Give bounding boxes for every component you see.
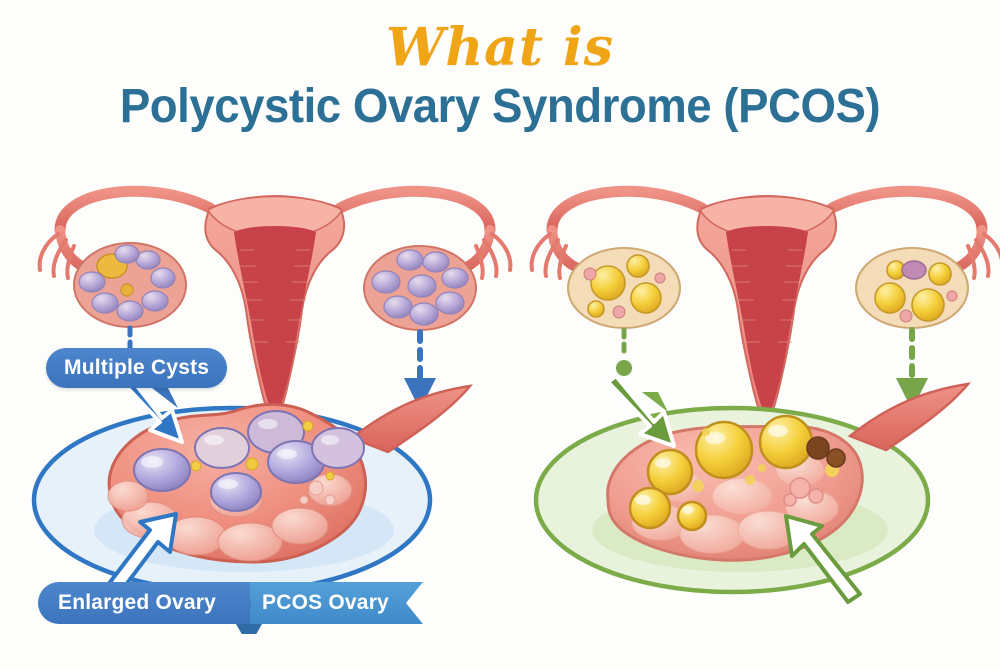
pcos-ovary-right-small: [364, 246, 476, 330]
normal-panel: Healthy Follicles Normal Ovary Regular S…: [500, 170, 1000, 670]
page-title: What is Polycystic Ovary Syndrome (PCOS): [0, 22, 1000, 132]
badge-tail-green: [642, 392, 668, 412]
badge-tail-blue: [152, 388, 178, 408]
infographic-canvas: What is Polycystic Ovary Syndrome (PCOS): [0, 0, 1000, 670]
pcos-ovary-left-small: [74, 243, 186, 327]
badge-multiple-cysts-label: Multiple Cysts: [64, 356, 209, 380]
banner-enlarged-ovary[interactable]: Enlarged Ovary: [38, 582, 250, 624]
normal-illustration: [500, 170, 1000, 670]
banner-pcos: Enlarged Ovary PCOS Ovary: [38, 582, 423, 624]
pcos-panel: Multiple Cysts Enlarged Ovary PCOS Ovary: [0, 170, 500, 670]
banner-pcos-ovary[interactable]: PCOS Ovary: [236, 582, 423, 624]
normal-ovary-left-small: [568, 248, 680, 328]
banner-pcos-ovary-label: PCOS Ovary: [262, 591, 389, 615]
badge-multiple-cysts[interactable]: Multiple Cysts: [46, 348, 227, 388]
normal-ovary-right-small: [856, 248, 968, 328]
title-main-line: Polycystic Ovary Syndrome (PCOS): [25, 82, 975, 132]
title-script-line: What is: [0, 22, 1000, 74]
banner-enlarged-ovary-label: Enlarged Ovary: [58, 591, 216, 615]
dashed-connector-dot-green: [616, 330, 632, 376]
